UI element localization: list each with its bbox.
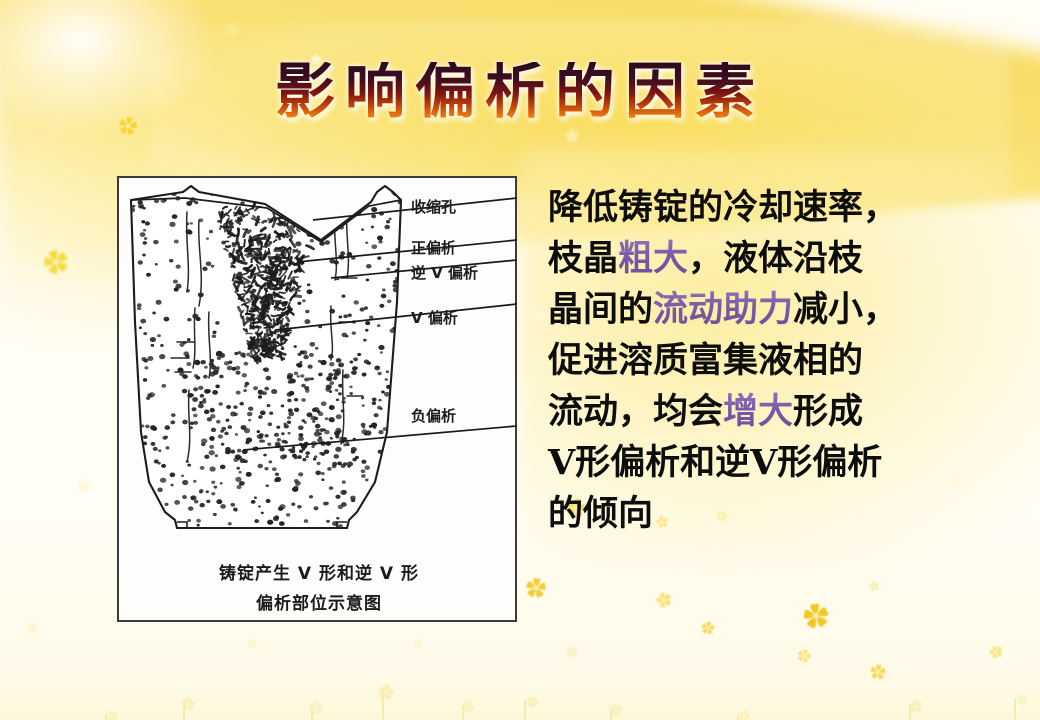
- flower-stem: [462, 706, 464, 720]
- flower-icon: [982, 638, 1009, 665]
- flower-icon: [864, 658, 892, 686]
- figure-label-shrinkage-cavity: 收缩孔: [411, 196, 456, 217]
- flower-icon: [216, 14, 249, 47]
- flower-icon: [790, 642, 818, 670]
- body-line-2-part-a: 枝晶: [548, 238, 618, 279]
- flower-stem: [105, 715, 107, 720]
- flower-stem: [382, 695, 384, 720]
- flower-icon: [604, 698, 627, 720]
- body-highlight-increase: 增大: [723, 391, 793, 432]
- flower-stem: [610, 711, 612, 720]
- figure-label-negative-segregation: 负偏析: [411, 405, 456, 426]
- flower-icon: [371, 677, 401, 707]
- flower-stem: [524, 700, 526, 720]
- slide-canvas: 影响偏析的因素: [0, 0, 1040, 720]
- flower-icon: [455, 693, 481, 719]
- body-line-4: 促进溶质富集液相的: [548, 335, 1018, 386]
- flower-icon: [732, 704, 755, 720]
- flower-icon: [560, 640, 583, 663]
- body-line-6-text: V形偏析和逆V形偏析: [548, 442, 882, 483]
- flower-icon: [73, 475, 94, 496]
- slide-title: 影响偏析的因素: [0, 62, 1040, 122]
- body-line-4-text: 促进溶质富集液相的: [548, 340, 863, 381]
- body-line-5: 流动，均会增大形成: [548, 386, 1018, 437]
- figure-caption-line-1: 铸锭产生 V 形和逆 V 形: [119, 559, 519, 584]
- body-line-1-text: 降低铸锭的冷却速率，: [548, 187, 898, 228]
- flower-icon: [175, 691, 201, 717]
- flower-icon: [904, 694, 928, 718]
- flower-stem: [183, 705, 185, 720]
- flower-icon: [242, 634, 262, 654]
- figure-label-v-segregation: V 偏析: [411, 307, 458, 328]
- body-line-2-part-c: ，液体沿枝: [688, 238, 863, 279]
- flower-icon: [695, 615, 720, 640]
- flower-icon: [864, 576, 884, 596]
- body-text-block: 降低铸锭的冷却速率， 枝晶粗大，液体沿枝 晶间的流动助力减小， 促进溶质富集液相…: [548, 182, 1018, 539]
- body-line-1: 降低铸锭的冷却速率，: [548, 182, 1018, 233]
- body-highlight-coarse: 粗大: [618, 238, 688, 279]
- flower-icon: [1010, 688, 1033, 711]
- body-highlight-flow-assist: 流动助力: [653, 289, 793, 330]
- body-line-3-part-c: 减小，: [793, 289, 898, 330]
- figure-panel: 收缩孔 正偏析 逆 V 偏析 V 偏析 负偏析 铸锭产生 V 形和逆 V 形 偏…: [117, 176, 517, 622]
- figure-inner: 收缩孔 正偏析 逆 V 偏析 V 偏析 负偏析 铸锭产生 V 形和逆 V 形 偏…: [119, 178, 515, 620]
- body-line-3-part-a: 晶间的: [548, 289, 653, 330]
- body-line-7: 的倾向: [548, 488, 1018, 539]
- flower-icon: [31, 237, 81, 287]
- flower-icon: [22, 618, 41, 637]
- body-line-2: 枝晶粗大，液体沿枝: [548, 233, 1018, 284]
- flower-stem: [909, 705, 911, 720]
- flower-icon: [304, 696, 329, 720]
- body-line-5-part-a: 流动，均会: [548, 391, 723, 432]
- figure-label-inverse-v-segregation: 逆 V 偏析: [411, 262, 478, 283]
- flower-icon: [648, 584, 680, 616]
- figure-label-positive-segregation: 正偏析: [411, 237, 456, 258]
- ingot-diagram: [125, 182, 517, 542]
- body-line-6: V形偏析和逆V形偏析: [548, 437, 1018, 488]
- body-line-7-text: 的倾向: [548, 493, 653, 534]
- figure-caption-line-2: 偏析部位示意图: [119, 589, 519, 614]
- body-line-5-part-c: 形成: [793, 391, 863, 432]
- flower-icon: [520, 690, 544, 714]
- flower-stem: [311, 709, 313, 720]
- flower-stem: [1014, 698, 1016, 720]
- flower-icon: [100, 704, 124, 720]
- flower-icon: [793, 593, 840, 640]
- flower-stem: [737, 714, 739, 720]
- flower-icon: [407, 633, 429, 655]
- body-line-3: 晶间的流动助力减小，: [548, 284, 1018, 335]
- flower-icon: [518, 570, 555, 607]
